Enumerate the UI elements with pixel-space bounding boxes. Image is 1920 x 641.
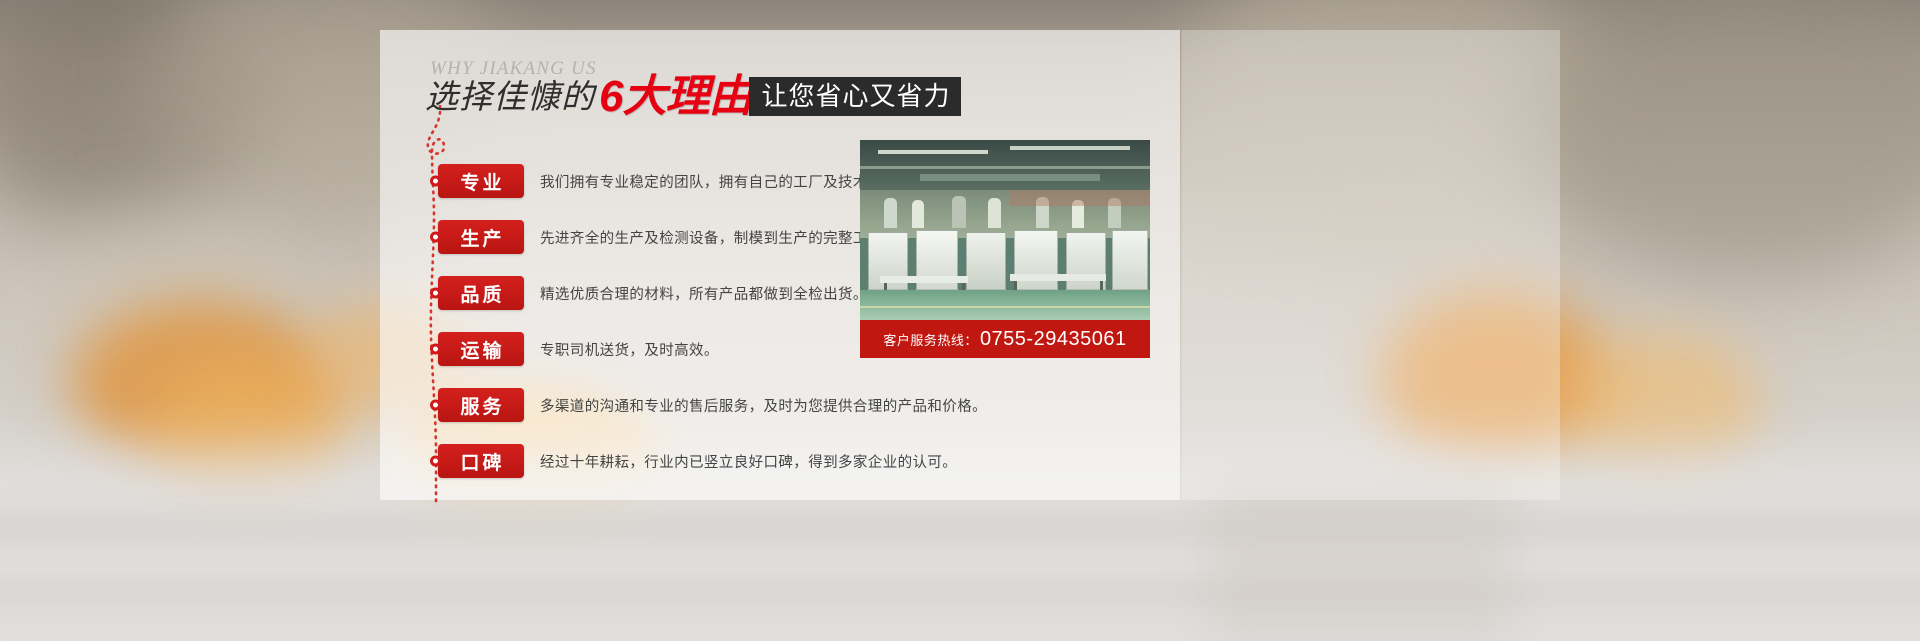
photo-machine	[966, 232, 1006, 290]
bullet-dot-icon	[430, 400, 441, 411]
photo-worker	[988, 198, 1001, 228]
reason-text: 先进齐全的生产及检测设备，制模到生产的完整工艺。	[540, 227, 898, 248]
factory-production-floor-photo	[860, 140, 1150, 320]
reason-tag: 服务	[438, 388, 524, 422]
bullet-dot-icon	[430, 176, 441, 187]
headline-highlight: 6大理由	[599, 74, 751, 120]
photo-workbench	[880, 276, 968, 283]
photo-floor-marking	[860, 306, 1150, 308]
bullet-dot-icon	[430, 344, 441, 355]
wood-plank-line	[1210, 470, 1510, 640]
photo-worker	[912, 200, 924, 228]
photo-machine	[1014, 230, 1058, 290]
photo-worker	[884, 198, 897, 228]
hotline-banner: 客户服务热线： 0755-29435061	[860, 320, 1150, 358]
photo-worker	[952, 196, 966, 228]
reason-tag: 口碑	[438, 444, 524, 478]
reason-tag: 专业	[438, 164, 524, 198]
factory-photo-block: 客户服务热线： 0755-29435061	[860, 140, 1150, 358]
hotline-number: 0755-29435061	[980, 328, 1127, 351]
photo-workbench	[1010, 274, 1106, 281]
reason-tag: 生产	[438, 220, 524, 254]
headline-banner: 让您省心又省力	[749, 77, 960, 116]
photo-ceiling-light	[1010, 146, 1130, 150]
hotline-label: 客户服务热线：	[883, 330, 978, 349]
reason-text: 专职司机送货，及时高效。	[540, 339, 719, 360]
photo-ceiling-beam	[860, 166, 1150, 169]
photo-floor	[860, 290, 1150, 320]
reason-tag: 运输	[438, 332, 524, 366]
bullet-dot-icon	[430, 288, 441, 299]
photo-ceiling-duct	[920, 174, 1100, 181]
reason-tag: 品质	[438, 276, 524, 310]
reason-text: 多渠道的沟通和专业的售后服务，及时为您提供合理的产品和价格。	[540, 395, 987, 416]
reason-text: 精选优质合理的材料，所有产品都做到全检出货。	[540, 283, 868, 304]
list-item[interactable]: 口碑 经过十年耕耘，行业内已竖立良好口碑，得到多家企业的认可。	[430, 435, 1170, 487]
reason-text: 我们拥有专业稳定的团队，拥有自己的工厂及技术。	[540, 171, 883, 192]
wood-plank-line	[0, 520, 1920, 536]
list-item[interactable]: 服务 多渠道的沟通和专业的售后服务，及时为您提供合理的产品和价格。	[430, 379, 1170, 431]
photo-ceiling-light	[878, 150, 988, 154]
wood-plank-line	[0, 586, 1920, 600]
reason-text: 经过十年耕耘，行业内已竖立良好口碑，得到多家企业的认可。	[540, 451, 957, 472]
photo-hanging-garments	[1010, 190, 1150, 206]
bullet-dot-icon	[430, 232, 441, 243]
bullet-dot-icon	[430, 456, 441, 467]
photo-machine	[1112, 230, 1148, 290]
headline-main: 选择佳慷的 6大理由 让您省心又省力	[425, 74, 961, 117]
